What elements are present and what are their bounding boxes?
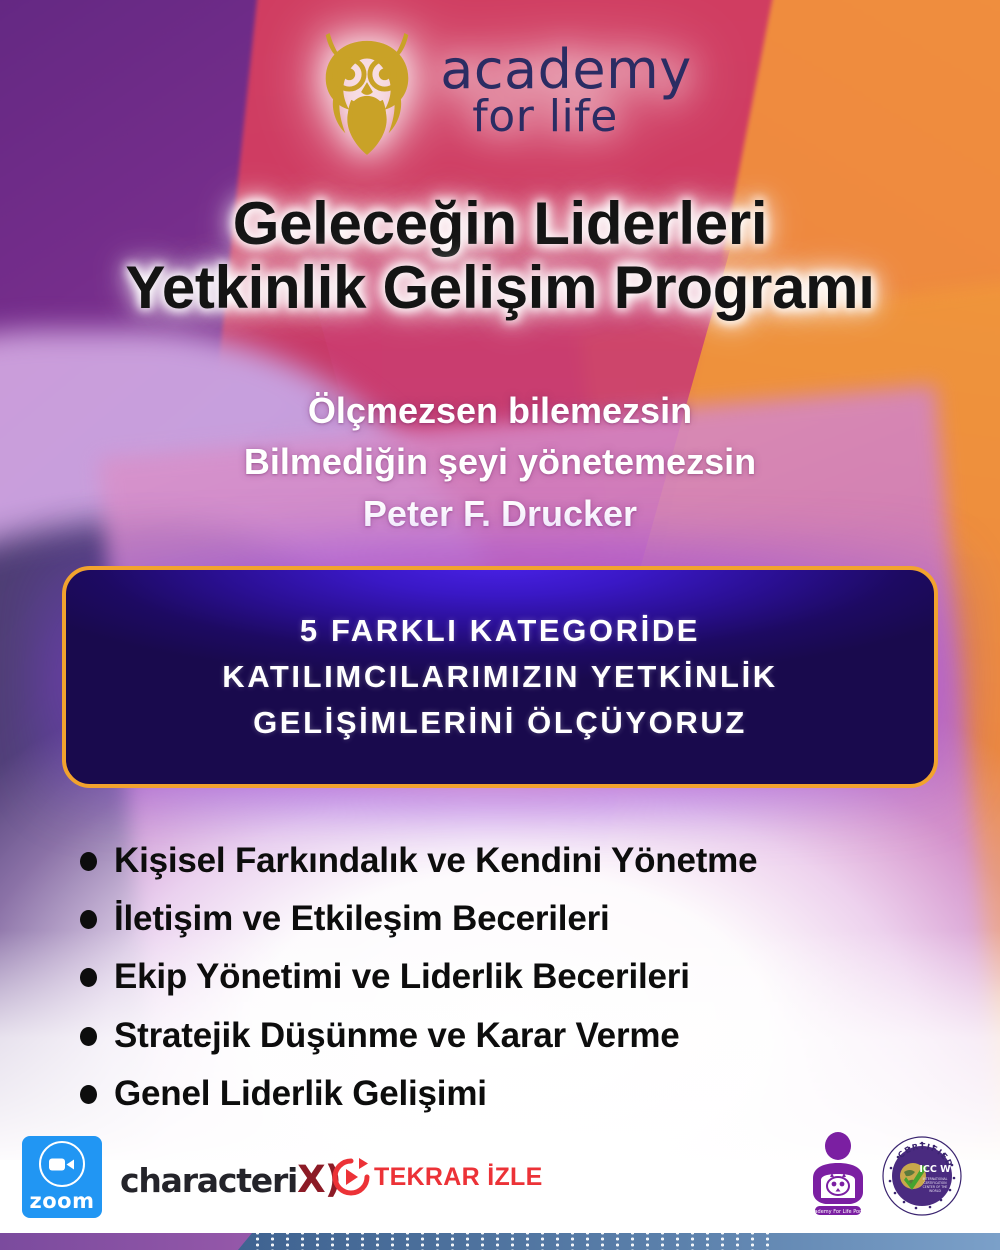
list-item-label: İletişim ve Etkileşim Becerileri — [114, 896, 610, 942]
page-title-line1: Geleceğin Liderleri — [233, 190, 768, 257]
list-item: Ekip Yönetimi ve Liderlik Becerileri — [80, 954, 980, 1000]
highlight-line1: 5 FARKLI KATEGORİDE — [222, 608, 778, 654]
icc-name-label: ICC W — [919, 1164, 951, 1175]
quote-line1: Ölçmezsen bilemezsin — [0, 385, 1000, 436]
zoom-circle — [39, 1141, 85, 1187]
brand-name-line1: academy — [440, 44, 691, 96]
category-list: Kişisel Farkındalık ve Kendini Yönetme İ… — [80, 838, 980, 1129]
page-title: Geleceğin Liderleri Yetkinlik Gelişim Pr… — [0, 192, 1000, 320]
bullet-dot-icon — [80, 968, 97, 987]
highlight-line2: KATILIMCILARIMIZIN YETKİNLİK — [222, 654, 778, 700]
brand-logo-text: academy for life — [440, 44, 691, 138]
portal-label: Academy For Life Portal — [808, 1209, 867, 1215]
bullet-dot-icon — [80, 1085, 97, 1104]
list-item: İletişim ve Etkileşim Becerileri — [80, 896, 980, 942]
bullet-dot-icon — [80, 910, 97, 929]
list-item: Kişisel Farkındalık ve Kendini Yönetme — [80, 838, 980, 884]
highlight-text: 5 FARKLI KATEGORİDE KATILIMCILARIMIZIN Y… — [222, 608, 778, 746]
brand-logo: academy for life — [0, 26, 1000, 156]
list-item-label: Stratejik Düşünme ve Karar Verme — [114, 1013, 680, 1059]
bullet-dot-icon — [80, 852, 97, 871]
characterix-label: characteri — [120, 1161, 297, 1200]
quote-block: Ölçmezsen bilemezsin Bilmediğin şeyi yön… — [0, 385, 1000, 539]
svg-text:WORLD: WORLD — [929, 1189, 941, 1193]
list-item-label: Genel Liderlik Gelişimi — [114, 1071, 487, 1117]
list-item: Genel Liderlik Gelişimi — [80, 1071, 980, 1117]
zoom-label: zoom — [30, 1189, 95, 1213]
highlight-box: 5 FARKLI KATEGORİDE KATILIMCILARIMIZIN Y… — [62, 566, 938, 788]
page-title-line2: Yetkinlik Gelişim Programı — [0, 256, 1000, 320]
bottom-strip — [0, 1233, 1000, 1250]
list-item: Stratejik Düşünme ve Karar Verme — [80, 1013, 980, 1059]
characterix-logo: characteri X) — [120, 1158, 341, 1201]
highlight-line3: GELİŞİMLERİNİ ÖLÇÜYORUZ — [222, 700, 778, 746]
bottom-strip-dots — [250, 1233, 780, 1250]
partner-logos-footer: zoom characteri X) TEKRAR İZLE — [0, 1128, 1000, 1228]
owl-icon — [308, 27, 426, 155]
bottom-strip-purple — [0, 1233, 260, 1250]
quote-author: Peter F. Drucker — [0, 488, 1000, 539]
zoom-logo: zoom — [22, 1136, 102, 1218]
video-camera-icon — [49, 1157, 75, 1172]
replay-play-icon — [330, 1156, 372, 1198]
quote-line2: Bilmediğin şeyi yönetemezsin — [0, 436, 1000, 487]
brand-name-line2: for life — [472, 96, 691, 138]
tekrar-izle-label: TEKRAR İZLE — [374, 1163, 543, 1192]
list-item-label: Kişisel Farkındalık ve Kendini Yönetme — [114, 838, 757, 884]
tekrar-izle-logo: TEKRAR İZLE — [330, 1156, 543, 1198]
list-item-label: Ekip Yönetimi ve Liderlik Becerileri — [114, 954, 690, 1000]
reader-owl-icon: Academy For Life Portal — [805, 1132, 871, 1220]
bullet-dot-icon — [80, 1027, 97, 1046]
poster-canvas: academy for life Geleceğin Liderleri Yet… — [0, 0, 1000, 1250]
certification-seal-icon: CERTIFIED ICC W INTERNATIONAL CERTIFICAT… — [882, 1136, 962, 1216]
